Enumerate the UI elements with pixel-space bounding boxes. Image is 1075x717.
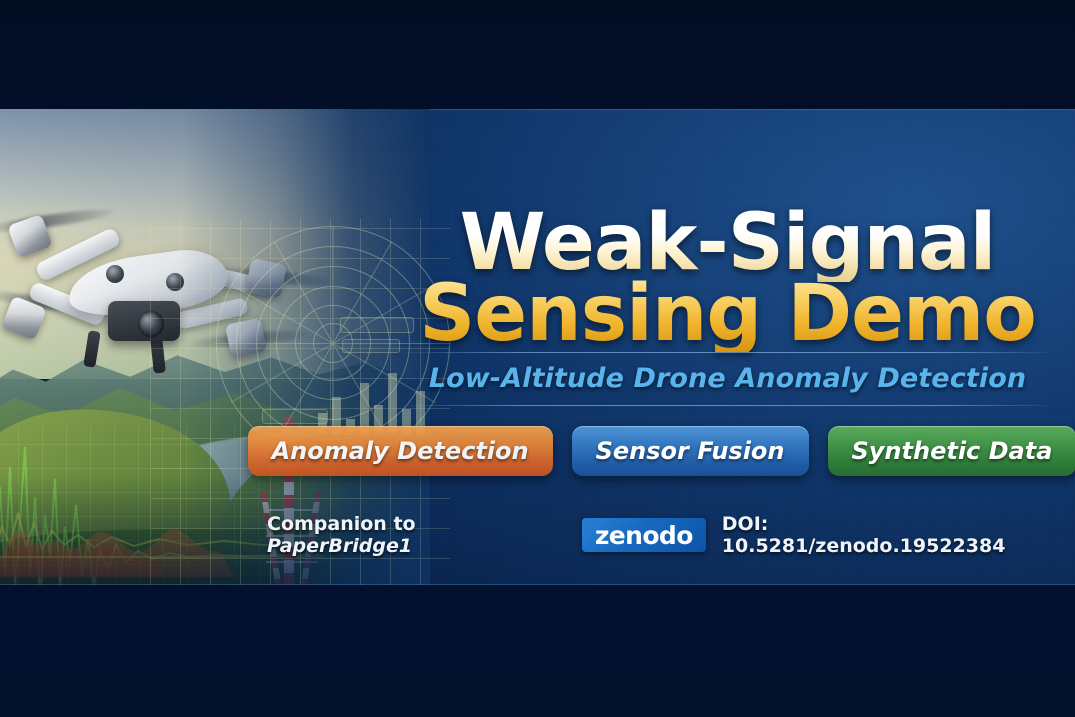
zenodo-logo[interactable]: zenodo [582,518,706,552]
divider-below-subtitle [406,405,1051,406]
companion-text: Companion to PaperBridge1 [267,513,566,557]
hud-panel [262,409,328,424]
badge-synthetic-data[interactable]: Synthetic Data [828,426,1075,476]
banner-bottom-edge [0,584,1075,585]
companion-paper-name: PaperBridge1 [267,535,412,557]
title-line-2: Sensing Demo [400,276,1055,352]
page-subtitle: Low-Altitude Drone Anomaly Detection [400,363,1055,394]
attribution-row: Companion to PaperBridge1 zenodo DOI: 10… [267,513,1057,557]
promo-banner: Weak-Signal Sensing Demo Low-Altitude Dr… [0,109,1075,585]
banner-content: Weak-Signal Sensing Demo Low-Altitude Dr… [400,109,1075,585]
topic-badge-list: Anomaly Detection Sensor Fusion Syntheti… [267,426,1057,476]
divider-above-subtitle [406,352,1051,353]
badge-anomaly-detection[interactable]: Anomaly Detection [248,426,553,476]
hud-panel [342,339,400,353]
doi-text[interactable]: DOI: 10.5281/zenodo.19522384 [722,513,1057,557]
page-background: Weak-Signal Sensing Demo Low-Altitude Dr… [0,0,1075,717]
badge-sensor-fusion[interactable]: Sensor Fusion [572,426,809,476]
page-title: Weak-Signal Sensing Demo [400,205,1055,352]
companion-prefix: Companion to [267,513,416,535]
